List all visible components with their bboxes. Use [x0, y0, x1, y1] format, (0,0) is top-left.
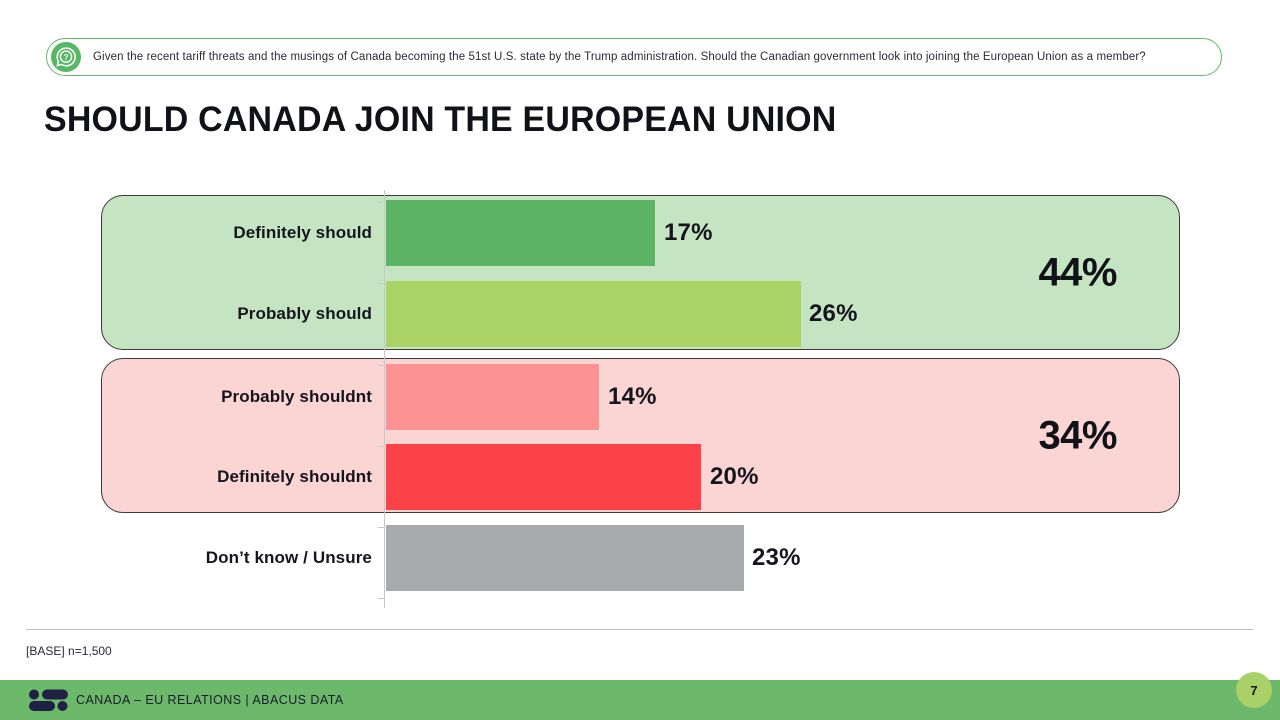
svg-text:?: ? — [64, 53, 69, 62]
bar-row-dont-know: Don’t know / Unsure 23% — [0, 525, 1280, 591]
bar-chart: 44% 34% Definitely should 17% Probably s… — [0, 180, 1280, 610]
bar-row-definitely-should: Definitely should 17% — [0, 200, 1280, 266]
bar-label-probably-shouldnt: Probably shouldnt — [221, 387, 372, 407]
bar-label-definitely-should: Definitely should — [233, 223, 372, 243]
question-text: Given the recent tariff threats and the … — [93, 50, 1146, 65]
bar-row-probably-shouldnt: Probably shouldnt 14% — [0, 364, 1280, 430]
abacus-data-logo — [28, 687, 70, 713]
base-note: [BASE] n=1,500 — [26, 644, 112, 658]
bar-value-definitely-shouldnt: 20% — [710, 463, 759, 491]
bar-row-probably-should: Probably should 26% — [0, 281, 1280, 347]
bar-definitely-shouldnt — [386, 444, 701, 510]
bar-dont-know — [386, 525, 744, 591]
bar-label-probably-should: Probably should — [237, 304, 372, 324]
bar-value-definitely-should: 17% — [664, 219, 713, 247]
question-callout: ? Given the recent tariff threats and th… — [46, 38, 1222, 76]
slide: ? Given the recent tariff threats and th… — [0, 0, 1280, 720]
footer-bar: CANADA – EU RELATIONS | ABACUS DATA — [0, 680, 1280, 720]
bar-probably-shouldnt — [386, 364, 599, 430]
bar-definitely-should — [386, 200, 655, 266]
bar-value-probably-should: 26% — [809, 300, 858, 328]
base-divider — [26, 629, 1253, 630]
axis-tick — [378, 598, 385, 599]
page-number-badge: 7 — [1236, 672, 1272, 708]
bar-value-dont-know: 23% — [752, 544, 801, 572]
bar-probably-should — [386, 281, 801, 347]
page-title: SHOULD CANADA JOIN THE EUROPEAN UNION — [44, 100, 836, 140]
question-mark-bubble-icon: ? — [51, 42, 81, 72]
bar-row-definitely-shouldnt: Definitely shouldnt 20% — [0, 444, 1280, 510]
bar-value-probably-shouldnt: 14% — [608, 383, 657, 411]
bar-label-definitely-shouldnt: Definitely shouldnt — [217, 467, 372, 487]
bar-label-dont-know: Don’t know / Unsure — [206, 548, 372, 568]
footer-text: CANADA – EU RELATIONS | ABACUS DATA — [76, 693, 344, 707]
